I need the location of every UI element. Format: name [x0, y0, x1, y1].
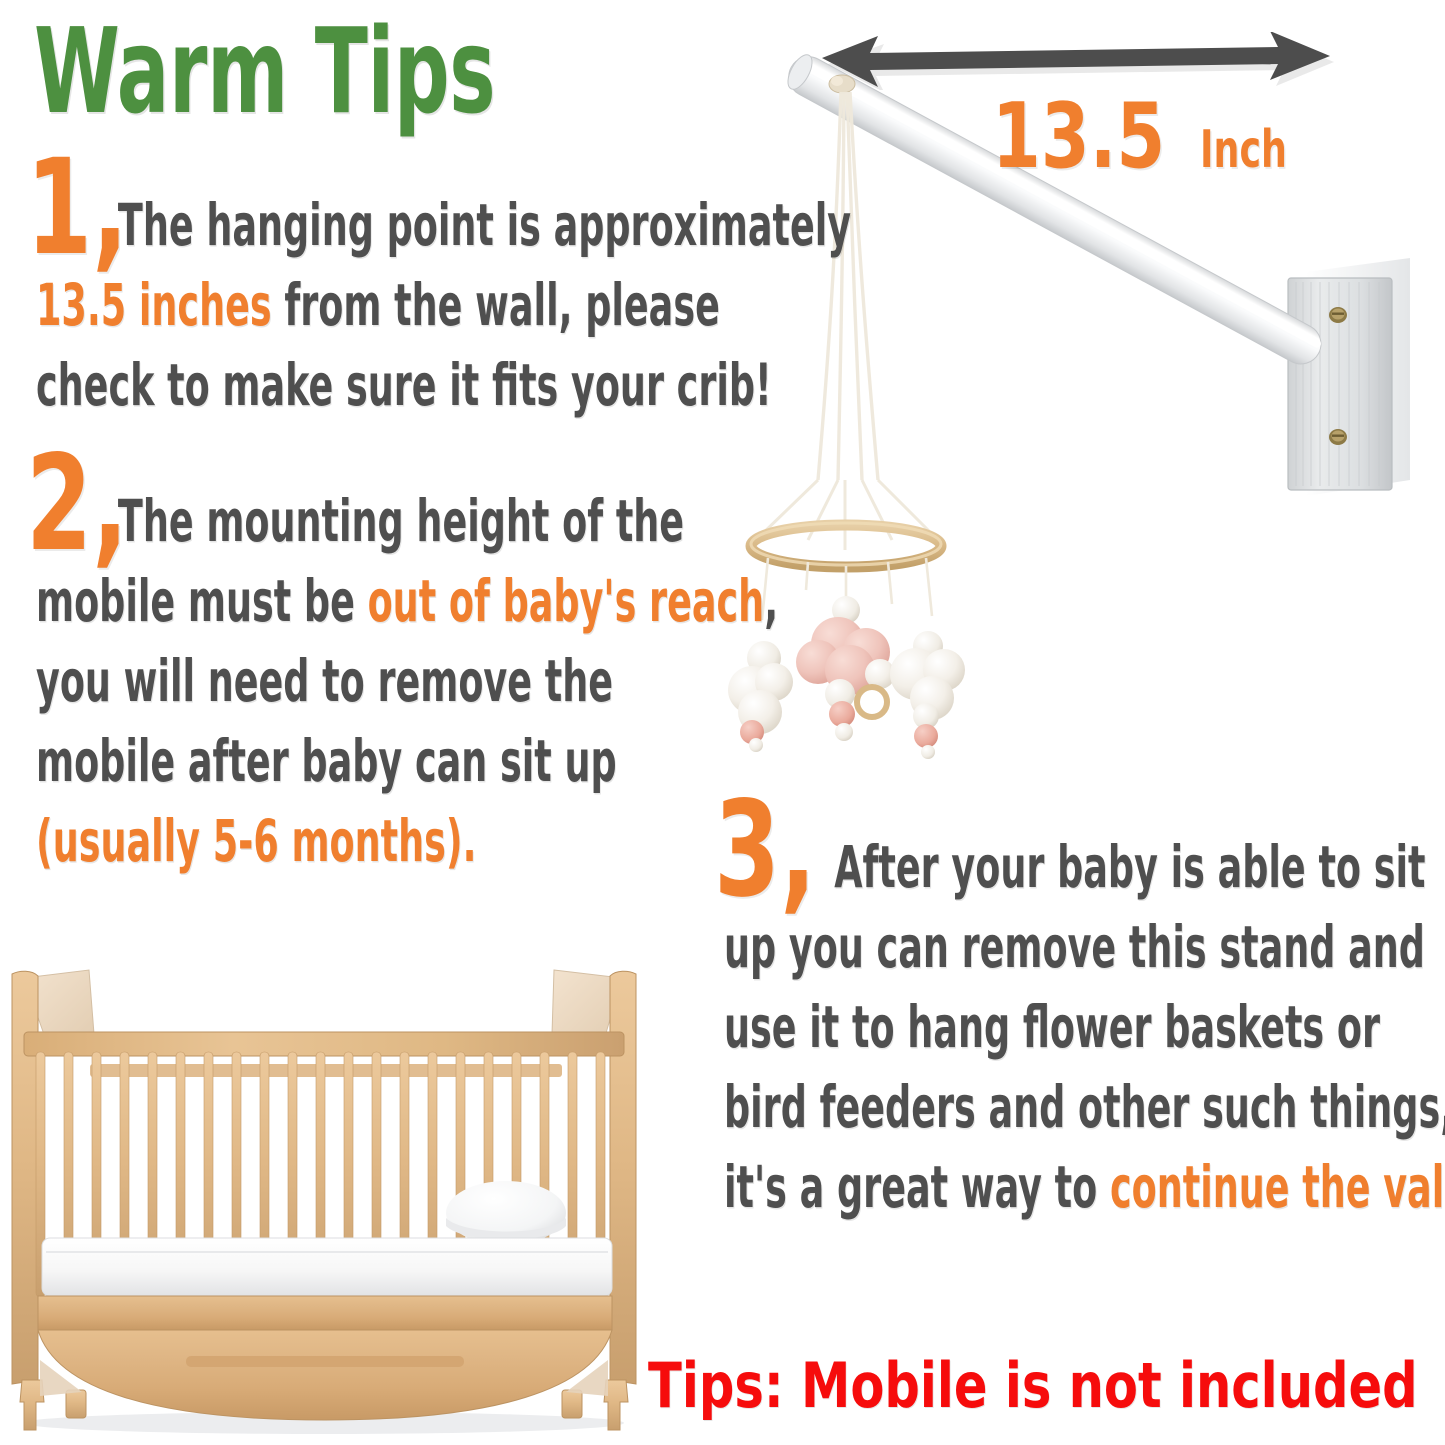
tip-3-line-3: use it to hang flower baskets or [724, 998, 1184, 1056]
tip-1-line-2-text: from the wall, please [272, 271, 720, 339]
tip-3-line-2-text: up you can remove this stand and [724, 913, 1425, 981]
tip-1-highlight-measure: 13.5 inches [36, 271, 272, 339]
tip-3-line-2: up you can remove this stand and [724, 918, 1184, 976]
dimension-unit: Inch [1200, 124, 1287, 176]
tip-3-line-4: bird feeders and other such things, [724, 1078, 1184, 1136]
tip-3-line-5-pre: it's a great way to [724, 1153, 1110, 1221]
tip-3-line-5: it's a great way to continue the value. [724, 1158, 1184, 1216]
tip-3-line-1: After your baby is able to sit [724, 838, 1184, 896]
tip-2-highlight-months: (usually 5-6 months). [36, 807, 476, 875]
tip-1-line-3: check to make sure it fits your crib! [36, 356, 553, 414]
dimension-value: 13.5 [992, 92, 1165, 182]
page-title: Warm Tips [34, 12, 495, 130]
crib-mattress [42, 1238, 612, 1296]
tip-2-line-5: (usually 5-6 months). [36, 812, 553, 870]
baby-crib-illustration [0, 960, 694, 1445]
mount-screw-bottom [1329, 429, 1347, 445]
crib-top-rail [24, 1032, 624, 1056]
tip-3-line-4-text: bird feeders and other such things, [724, 1073, 1445, 1141]
tip-3-line-1-text: After your baby is able to sit [834, 833, 1425, 901]
crib-pillow [446, 1181, 566, 1245]
tip-1-body: The hanging point is approximately 13.5 … [36, 196, 856, 436]
tip-2-line-3-text: you will need to remove the [36, 647, 613, 715]
tip-2-line-1: The mounting height of the [36, 492, 553, 550]
tip-2-line-4-text: mobile after baby can sit up [36, 727, 617, 795]
tip-2-highlight-reach: out of baby's reach [368, 567, 765, 635]
tip-2-line-2: mobile must be out of baby's reach, [36, 572, 553, 630]
double-headed-arrow-icon [818, 32, 1334, 90]
disclaimer-text: Tips: Mobile is not included [648, 1355, 1418, 1417]
tip-2-line-3: you will need to remove the [36, 652, 553, 710]
tip-3-highlight-value: continue the value. [1110, 1153, 1445, 1221]
mobile-cloud-right [890, 631, 965, 759]
tip-3-line-3-text: use it to hang flower baskets or [724, 993, 1380, 1061]
infographic-canvas: Warm Tips [0, 0, 1445, 1445]
tip-2-line-1-text: The mounting height of the [118, 487, 684, 555]
tip-2-line-2-post: , [764, 567, 778, 635]
wall-mount-plate [1288, 258, 1410, 496]
crib-lower-panel [38, 1296, 612, 1420]
tip-3-body: After your baby is able to sit up you ca… [724, 838, 1445, 1238]
tip-2-line-4: mobile after baby can sit up [36, 732, 553, 790]
tip-1-line-1: The hanging point is approximately [36, 196, 553, 254]
tip-1-line-1-text: The hanging point is approximately [118, 191, 851, 259]
tip-2-line-2-pre: mobile must be [36, 567, 368, 635]
crib-headboard-panels [24, 970, 622, 1040]
tip-1-line-3-text: check to make sure it fits your crib! [36, 351, 772, 419]
tip-1-line-2: 13.5 inches from the wall, please [36, 276, 553, 334]
mount-screw-top [1329, 307, 1347, 323]
dimension-label: 13.5Inch [992, 92, 1324, 182]
